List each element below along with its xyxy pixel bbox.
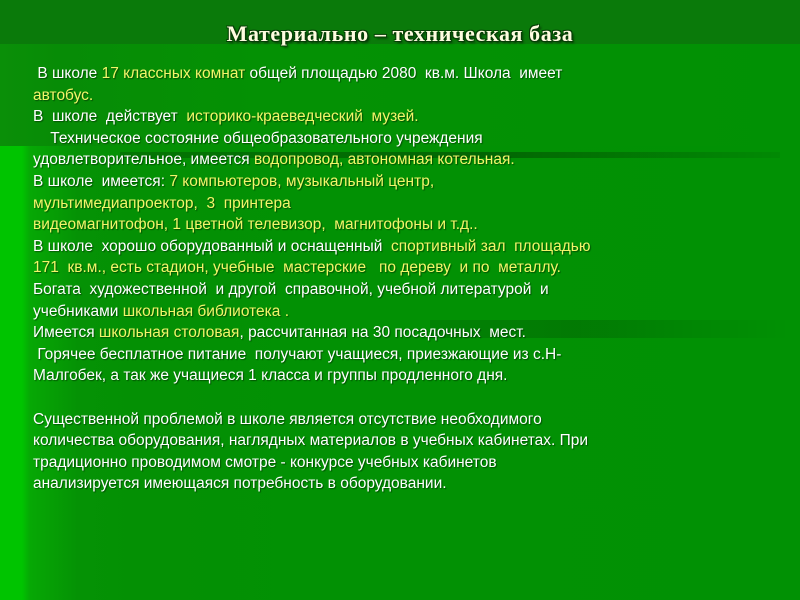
text-run: Богата художественной и другой справочно… — [33, 281, 549, 320]
text-run: В школе имеется: — [33, 173, 169, 190]
slide-paragraph: Горячее бесплатное питание получают учащ… — [33, 344, 778, 387]
slide-paragraph: Богата художественной и другой справочно… — [33, 279, 778, 322]
text-run: Имеется — [33, 324, 99, 341]
highlighted-text-run: школьная библиотека . — [123, 303, 289, 320]
slide-paragraph: Имеется школьная столовая, рассчитанная … — [33, 322, 778, 344]
slide-paragraph: Существенной проблемой в школе является … — [33, 409, 778, 495]
highlighted-text-run: видеомагнитофон, 1 цветной телевизор, ма… — [33, 216, 478, 233]
text-run: В школе — [33, 65, 102, 82]
slide-body-text: В школе 17 классных комнат общей площадь… — [33, 63, 778, 495]
slide-paragraph: В школе имеется: 7 компьютеров, музыкаль… — [33, 171, 778, 214]
text-run: Горячее бесплатное питание получают учащ… — [33, 346, 561, 385]
text-run: Существенной проблемой в школе является … — [33, 411, 588, 493]
text-run: В школе действует — [33, 108, 186, 125]
presentation-slide: Материально – техническая база В школе 1… — [0, 0, 800, 600]
highlighted-text-run: 17 классных комнат — [102, 65, 246, 82]
slide-paragraph: В школе хорошо оборудованный и оснащенны… — [33, 236, 778, 279]
highlighted-text-run: автобус. — [33, 87, 93, 104]
highlighted-text-run: школьная столовая — [99, 324, 240, 341]
slide-paragraph: видеомагнитофон, 1 цветной телевизор, ма… — [33, 214, 778, 236]
slide-paragraph: Техническое состояние общеобразовательно… — [33, 128, 778, 171]
text-run: , рассчитанная на 30 посадочных мест. — [239, 324, 526, 341]
slide-paragraph: В школе 17 классных комнат общей площадь… — [33, 63, 778, 106]
paragraph-spacer — [33, 387, 778, 409]
slide-paragraph: В школе действует историко-краеведческий… — [33, 106, 778, 128]
highlighted-text-run: историко-краеведческий музей. — [186, 108, 418, 125]
text-run: общей площадью 2080 кв.м. Школа имеет — [245, 65, 562, 82]
text-run: В школе хорошо оборудованный и оснащенны… — [33, 238, 391, 255]
highlighted-text-run: водопровод, автономная котельная. — [254, 151, 515, 168]
slide-title: Материально – техническая база — [0, 21, 800, 47]
